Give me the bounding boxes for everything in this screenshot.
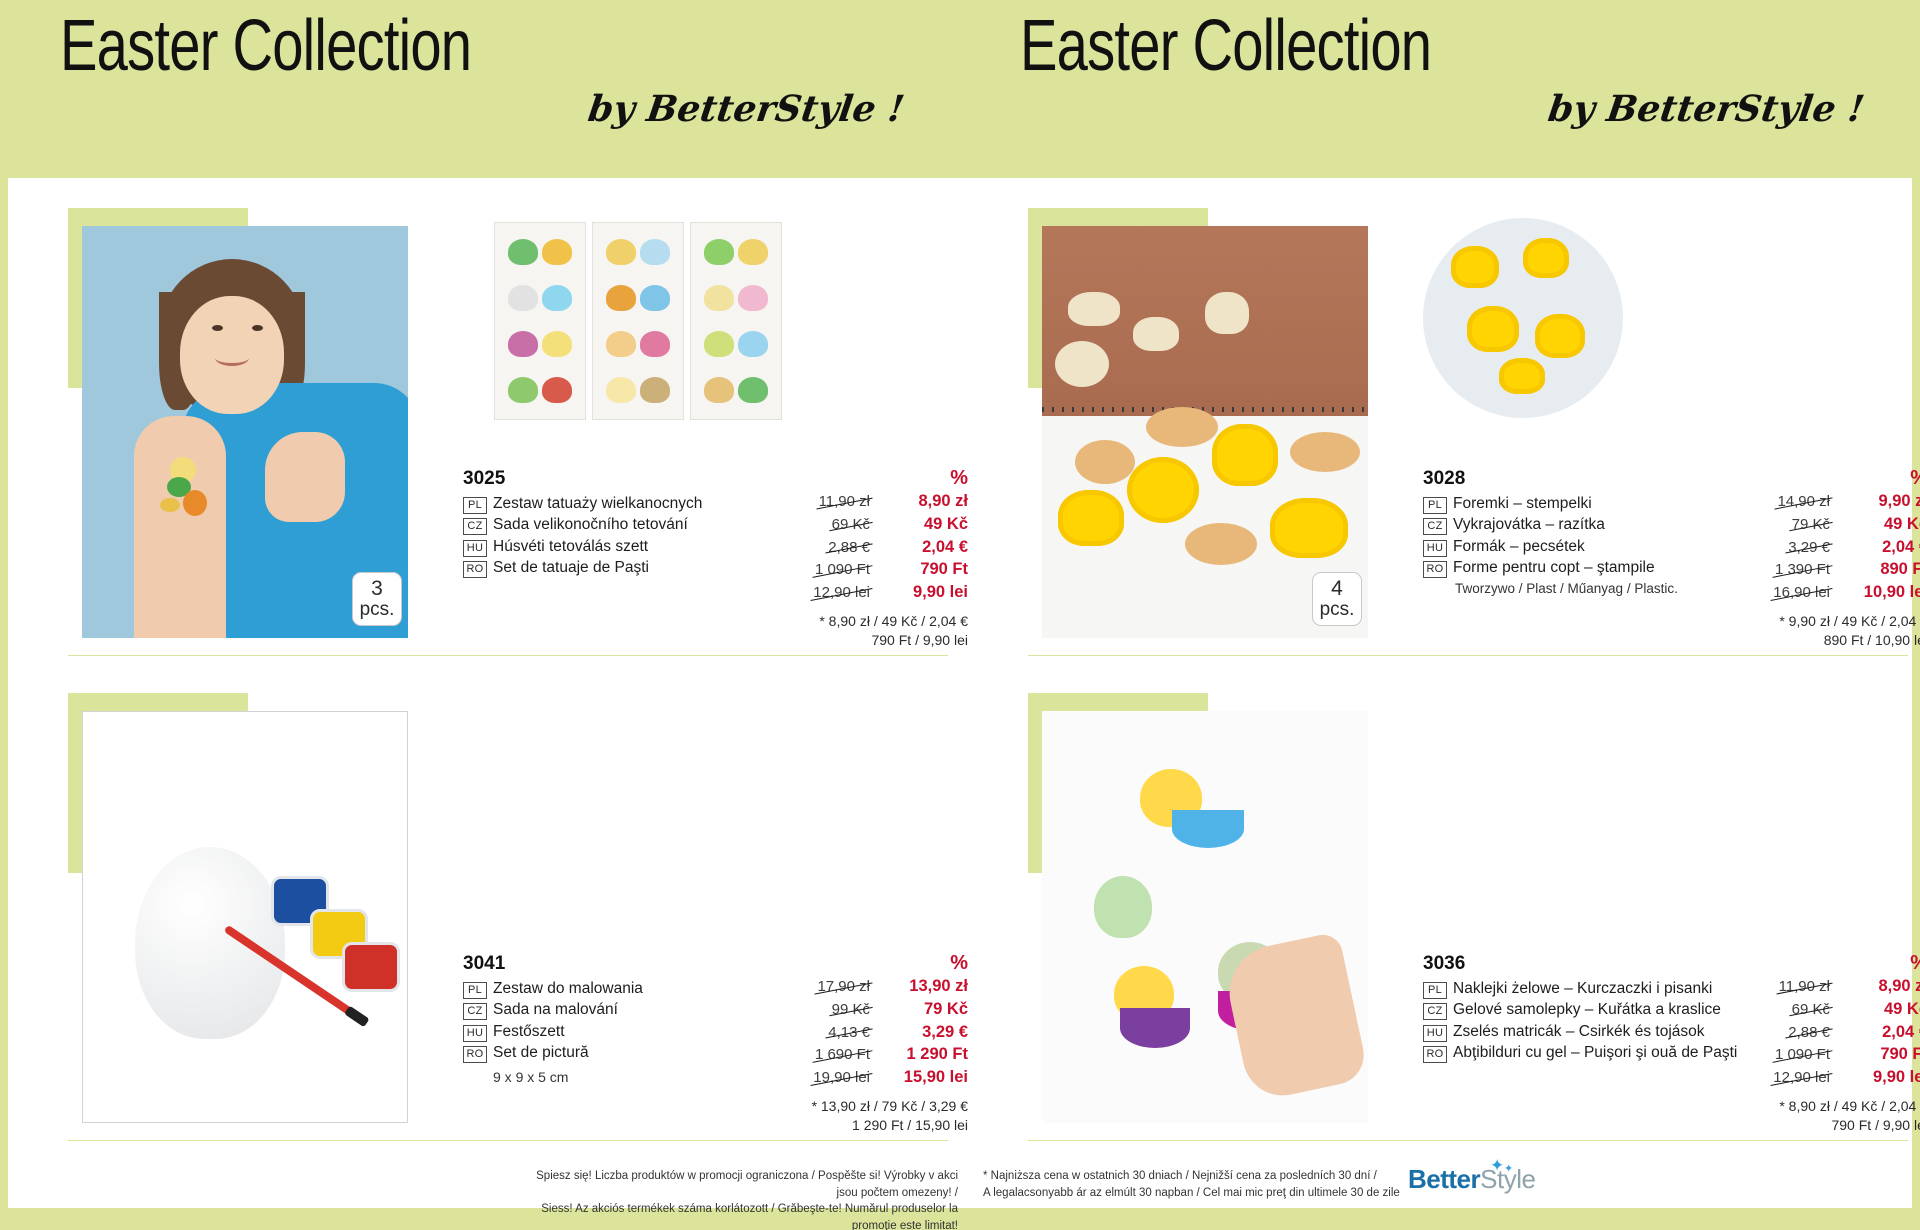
product-card-3025[interactable]: 3 pcs. <box>68 208 968 678</box>
pcs-unit: pcs. <box>360 600 395 620</box>
price-footnote-line2: 790 Ft / 9,90 lei <box>763 631 968 650</box>
new-price: 49 Kč <box>1842 513 1920 536</box>
product-name-text: Set de tatuaje de Paşti <box>493 557 649 578</box>
product-name-hu: HU Zselés matricák – Csirkék és tojások <box>1423 1021 1753 1042</box>
new-price: 13,90 zł <box>882 975 968 998</box>
product-name-pl: PL Zestaw tatuaży wielkanocnych <box>463 493 763 514</box>
divider <box>68 655 948 656</box>
product-image-3036[interactable] <box>1028 693 1368 1123</box>
product-info-3028: 3028 PL Foremki – stempelki CZ Vykrajová… <box>1423 468 1920 650</box>
price-block: % 11,90 zł8,90 zł 69 Kč49 Kč 2,88 €2,04 … <box>1753 953 1920 1135</box>
header-right: Easter Collection by BetterStyle ! <box>1020 10 1880 130</box>
footer-right-line2: A legalacsonyabb ár az elmúlt 30 napban … <box>983 1185 1403 1202</box>
new-price: 8,90 zł <box>1842 975 1920 998</box>
product-name-text: Forme pentru copt – ştampile <box>1453 557 1655 578</box>
lang-tag-cz: CZ <box>463 518 487 535</box>
footer-right-line1: * Najniższa cena w ostatnich 30 dniach /… <box>983 1168 1403 1185</box>
product-name-text: Vykrajovátka – razítka <box>1453 514 1605 535</box>
page-subtitle-left: by BetterStyle ! <box>57 88 923 130</box>
product-name-text: Festőszett <box>493 1021 565 1042</box>
old-price: 1 090 Ft <box>815 560 870 581</box>
catalog-page: Easter Collection by BetterStyle ! Easte… <box>0 0 1920 1230</box>
old-price: 12,90 lei <box>1773 1068 1830 1089</box>
new-price: 1 290 Ft <box>882 1043 968 1066</box>
price-footnote-line1: * 9,90 zł / 49 Kč / 2,04 € <box>1723 612 1920 631</box>
product-image-3041[interactable] <box>68 693 408 1123</box>
old-price: 3,29 € <box>1788 538 1830 559</box>
footer-note-right: * Najniższa cena w ostatnich 30 dniach /… <box>983 1168 1403 1201</box>
product-name-text: Zestaw tatuaży wielkanocnych <box>493 493 702 514</box>
product-image-3028[interactable]: 4 pcs. <box>1028 208 1368 638</box>
divider <box>68 1140 948 1141</box>
page-footer: Spiesz się! Liczba produktów w promocji … <box>8 1160 1912 1208</box>
lang-tag-pl: PL <box>1423 982 1447 999</box>
header-band: Easter Collection by BetterStyle ! Easte… <box>0 0 1920 178</box>
photo-egg-paint-kit <box>82 711 408 1123</box>
footer-left-line1: Spiesz się! Liczba produktów w promocji … <box>528 1168 958 1201</box>
product-info-3036: 3036 PL Naklejki żelowe – Kurczaczki i p… <box>1423 953 1920 1135</box>
product-card-3041[interactable]: 3041 PL Zestaw do malowania CZ Sada na m… <box>68 693 968 1163</box>
discount-symbol: % <box>1723 468 1920 488</box>
new-price: 3,29 € <box>882 1021 968 1044</box>
new-price: 2,04 € <box>1842 1021 1920 1044</box>
product-code: 3036 <box>1423 953 1753 975</box>
old-price: 17,90 zł <box>817 977 870 998</box>
old-price: 2,88 € <box>828 538 870 559</box>
product-name-cz: CZ Vykrajovátka – razítka <box>1423 514 1723 535</box>
price-block: % 11,90 zł8,90 zł 69 Kč49 Kč 2,88 €2,04 … <box>763 468 968 650</box>
lang-tag-hu: HU <box>463 540 487 557</box>
new-price: 790 Ft <box>1842 1043 1920 1066</box>
price-footnote-line2: 790 Ft / 9,90 lei <box>1753 1116 1920 1135</box>
lang-tag-pl: PL <box>463 497 487 514</box>
new-price: 790 Ft <box>882 558 968 581</box>
sparkle-small-icon: ✦ <box>1504 1164 1513 1175</box>
product-name-text: Zselés matricák – Csirkék és tojások <box>1453 1021 1705 1042</box>
pcs-count: 4 <box>1331 578 1343 600</box>
divider <box>1028 1140 1908 1141</box>
content-sheet: 3 pcs. <box>8 178 1912 1198</box>
product-code: 3028 <box>1423 468 1723 490</box>
photo-sticker-sheets <box>428 216 848 426</box>
product-material: Tworzywo / Plast / Műanyag / Plastic. <box>1423 581 1723 596</box>
photo-cutters-inset <box>1423 218 1623 418</box>
photo-gel-stickers <box>1042 711 1368 1123</box>
page-subtitle-right: by BetterStyle ! <box>1017 88 1883 130</box>
product-name-ro: RO Abţibilduri cu gel – Puişori şi ouă d… <box>1423 1042 1753 1063</box>
lang-tag-hu: HU <box>463 1025 487 1042</box>
old-price: 1 690 Ft <box>815 1045 870 1066</box>
product-name-ro: RO Set de pictură <box>463 1042 763 1063</box>
lang-tag-hu: HU <box>1423 540 1447 557</box>
lang-tag-ro: RO <box>463 561 487 578</box>
price-footnote-line2: 1 290 Ft / 15,90 lei <box>763 1116 968 1135</box>
price-block: % 17,90 zł13,90 zł 99 Kč79 Kč 4,13 €3,29… <box>763 953 968 1135</box>
product-name-hu: HU Húsvéti tetoválás szett <box>463 536 763 557</box>
old-price: 4,13 € <box>828 1023 870 1044</box>
new-price: 15,90 lei <box>882 1066 968 1089</box>
product-name-text: Zestaw do malowania <box>493 978 643 999</box>
product-name-pl: PL Foremki – stempelki <box>1423 493 1723 514</box>
new-price: 2,04 € <box>1842 536 1920 559</box>
price-footnote-line1: * 13,90 zł / 79 Kč / 3,29 € <box>763 1097 968 1116</box>
product-name-text: Foremki – stempelki <box>1453 493 1592 514</box>
product-name-pl: PL Zestaw do malowania <box>463 978 763 999</box>
old-price: 11,90 zł <box>819 492 870 513</box>
product-name-text: Gelové samolepky – Kuřátka a kraslice <box>1453 999 1721 1020</box>
product-name-hu: HU Festőszett <box>463 1021 763 1042</box>
old-price: 2,88 € <box>1788 1023 1830 1044</box>
lang-tag-cz: CZ <box>1423 518 1447 535</box>
lang-tag-ro: RO <box>463 1046 487 1063</box>
photo-cookie-cutters: 4 pcs. <box>1042 226 1368 638</box>
price-footnote-line1: * 8,90 zł / 49 Kč / 2,04 € <box>763 612 968 631</box>
discount-symbol: % <box>763 468 968 488</box>
product-name-ro: RO Set de tatuaje de Paşti <box>463 557 763 578</box>
divider <box>1028 655 1908 656</box>
product-name-ro: RO Forme pentru copt – ştampile <box>1423 557 1723 578</box>
pcs-unit: pcs. <box>1320 600 1355 620</box>
lang-tag-cz: CZ <box>463 1003 487 1020</box>
brand-name-part1: Better <box>1408 1164 1480 1194</box>
old-price: 99 Kč <box>832 1000 870 1021</box>
new-price: 49 Kč <box>1842 998 1920 1021</box>
product-dimensions: 9 x 9 x 5 cm <box>463 1069 763 1085</box>
product-name-cz: CZ Sada velikonočního tetování <box>463 514 763 535</box>
product-info-3025: 3025 PL Zestaw tatuaży wielkanocnych CZ … <box>463 468 968 650</box>
lang-tag-ro: RO <box>1423 561 1447 578</box>
footer-left-line2: Siess! Az akciós termékek száma korlátoz… <box>528 1201 958 1230</box>
new-price: 2,04 € <box>882 536 968 559</box>
product-name-hu: HU Formák – pecsétek <box>1423 536 1723 557</box>
brand-logo: BetterStyle ✦ ✦ <box>1408 1166 1535 1192</box>
old-price: 19,90 lei <box>813 1068 870 1089</box>
product-name-text: Sada velikonočního tetování <box>493 514 688 535</box>
product-name-cz: CZ Gelové samolepky – Kuřátka a kraslice <box>1423 999 1753 1020</box>
pcs-badge-3025: 3 pcs. <box>352 572 402 626</box>
sparkle-icon: ✦ <box>1490 1157 1504 1174</box>
old-price: 11,90 zł <box>1779 977 1830 998</box>
old-price: 1 090 Ft <box>1775 1045 1830 1066</box>
product-name-cz: CZ Sada na malování <box>463 999 763 1020</box>
old-price: 79 Kč <box>1792 515 1830 536</box>
old-price: 1 390 Ft <box>1775 560 1830 581</box>
new-price: 8,90 zł <box>882 490 968 513</box>
new-price: 79 Kč <box>882 998 968 1021</box>
price-footnote-line1: * 8,90 zł / 49 Kč / 2,04 € <box>1753 1097 1920 1116</box>
footer-note-left: Spiesz się! Liczba produktów w promocji … <box>528 1168 958 1230</box>
lang-tag-cz: CZ <box>1423 1003 1447 1020</box>
product-name-text: Formák – pecsétek <box>1453 536 1585 557</box>
product-name-text: Set de pictură <box>493 1042 589 1063</box>
new-price: 890 Ft <box>1842 558 1920 581</box>
lang-tag-pl: PL <box>463 982 487 999</box>
old-price: 69 Kč <box>1792 1000 1830 1021</box>
lang-tag-hu: HU <box>1423 1025 1447 1042</box>
price-block: % 14,90 zł9,90 zł 79 Kč49 Kč 3,29 €2,04 … <box>1723 468 1920 650</box>
pcs-count: 3 <box>371 578 383 600</box>
header-left: Easter Collection by BetterStyle ! <box>60 10 920 130</box>
old-price: 12,90 lei <box>813 583 870 604</box>
price-footnote-line2: 890 Ft / 10,90 lei <box>1723 631 1920 650</box>
lang-tag-pl: PL <box>1423 497 1447 514</box>
product-info-3041: 3041 PL Zestaw do malowania CZ Sada na m… <box>463 953 968 1135</box>
product-name-text: Abţibilduri cu gel – Puişori şi ouă de P… <box>1453 1042 1737 1063</box>
new-price: 9,90 lei <box>882 581 968 604</box>
pcs-badge-3028: 4 pcs. <box>1312 572 1362 626</box>
page-title-left: Easter Collection <box>60 10 731 82</box>
old-price: 69 Kč <box>832 515 870 536</box>
old-price: 14,90 zł <box>1777 492 1830 513</box>
product-card-3028[interactable]: 4 pcs. 3028 PL Forem <box>1028 208 1920 678</box>
old-price: 16,90 lei <box>1773 583 1830 604</box>
product-code: 3025 <box>463 468 763 490</box>
photo-kid-tattoo: 3 pcs. <box>82 226 408 638</box>
product-name-text: Sada na malování <box>493 999 618 1020</box>
new-price: 9,90 lei <box>1842 1066 1920 1089</box>
product-card-3036[interactable]: 3036 PL Naklejki żelowe – Kurczaczki i p… <box>1028 693 1920 1163</box>
new-price: 9,90 zł <box>1842 490 1920 513</box>
product-image-3025[interactable]: 3 pcs. <box>68 208 408 638</box>
product-code: 3041 <box>463 953 763 975</box>
lang-tag-ro: RO <box>1423 1046 1447 1063</box>
product-name-pl: PL Naklejki żelowe – Kurczaczki i pisank… <box>1423 978 1753 999</box>
discount-symbol: % <box>763 953 968 973</box>
new-price: 10,90 lei <box>1842 581 1920 604</box>
product-name-text: Húsvéti tetoválás szett <box>493 536 648 557</box>
discount-symbol: % <box>1753 953 1920 973</box>
product-name-text: Naklejki żelowe – Kurczaczki i pisanki <box>1453 978 1712 999</box>
page-title-right: Easter Collection <box>1020 10 1691 82</box>
new-price: 49 Kč <box>882 513 968 536</box>
